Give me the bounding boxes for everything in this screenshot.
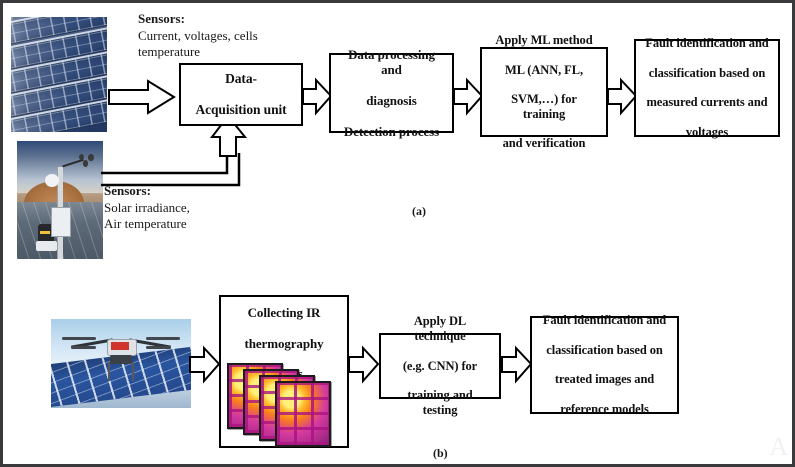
arrow-ir-to-dl	[348, 347, 380, 382]
dl-line-3: training and testing	[385, 388, 495, 418]
ml-line-2: ML (ANN, FL,	[486, 63, 602, 78]
caption-b: (b)	[433, 446, 448, 461]
ir-line-2: thermography	[241, 336, 328, 351]
sensors-top-line1: Current, voltages, cells	[138, 28, 258, 43]
sensors-top-label: Sensors: Current, voltages, cells temper…	[138, 11, 258, 61]
ir-line-1: Collecting IR	[241, 305, 328, 320]
sensors-top-line2: temperature	[138, 44, 200, 59]
processing-line-1: Data processing and	[335, 47, 448, 78]
processing-line-2: diagnosis	[335, 93, 448, 108]
arrow-dl-to-fault	[501, 347, 533, 382]
caption-a: (a)	[412, 204, 426, 219]
drone-photo	[51, 319, 191, 408]
arrow-processing-to-ml	[453, 79, 483, 114]
box-fault-identification-a[interactable]: Fault identification and classification …	[634, 39, 780, 137]
box-collecting-ir-images[interactable]: Collecting IR thermography images	[219, 295, 349, 448]
fault-a-line-1: Fault identification and	[641, 36, 772, 51]
arrow-drone-to-ir	[189, 347, 221, 382]
pv-array-photo	[11, 17, 107, 132]
dl-line-2: (e.g. CNN) for	[385, 359, 495, 374]
arrow-ml-to-fault	[607, 79, 637, 114]
ir-thermography-image-stack	[227, 363, 345, 443]
ml-line-3: SVM,…) for training	[486, 92, 602, 122]
arrow-daq-to-processing	[302, 79, 332, 114]
sensors-bottom-line2: Air temperature	[104, 216, 187, 231]
processing-line-3: Detection process	[335, 124, 448, 139]
figure-frame: Sensors: Current, voltages, cells temper…	[0, 0, 795, 467]
daq-line-1: Data-	[191, 71, 290, 87]
ir-thermal-image	[275, 381, 331, 447]
fault-b-line-2: classification based on	[539, 343, 670, 358]
fault-b-line-4: reference models	[539, 402, 670, 417]
sensors-top-heading: Sensors:	[138, 11, 185, 26]
ml-line-4: and verification	[486, 136, 602, 151]
fault-b-line-3: treated images and	[539, 372, 670, 387]
fault-a-line-3: measured currents and	[641, 95, 772, 110]
box-apply-dl[interactable]: Apply DL technique (e.g. CNN) for traini…	[379, 333, 501, 399]
fault-a-line-2: classification based on	[641, 66, 772, 81]
sensors-bottom-line1: Solar irradiance,	[104, 200, 190, 215]
ml-line-1: Apply ML method	[486, 33, 602, 48]
weather-station-photo	[17, 141, 103, 259]
box-data-processing[interactable]: Data processing and diagnosis Detection …	[329, 53, 454, 133]
fault-b-line-1: Fault identification and	[539, 313, 670, 328]
daq-line-2: Acquisition unit	[191, 102, 290, 118]
watermark: A	[769, 432, 788, 462]
fault-a-line-4: voltages	[641, 125, 772, 140]
box-data-acquisition-unit[interactable]: Data- Acquisition unit	[179, 63, 303, 126]
box-fault-identification-b[interactable]: Fault identification and classification …	[530, 316, 679, 414]
dl-line-1: Apply DL technique	[385, 314, 495, 344]
arrow-pv-to-daq	[108, 80, 176, 114]
box-apply-ml[interactable]: Apply ML method ML (ANN, FL, SVM,…) for …	[480, 47, 608, 137]
